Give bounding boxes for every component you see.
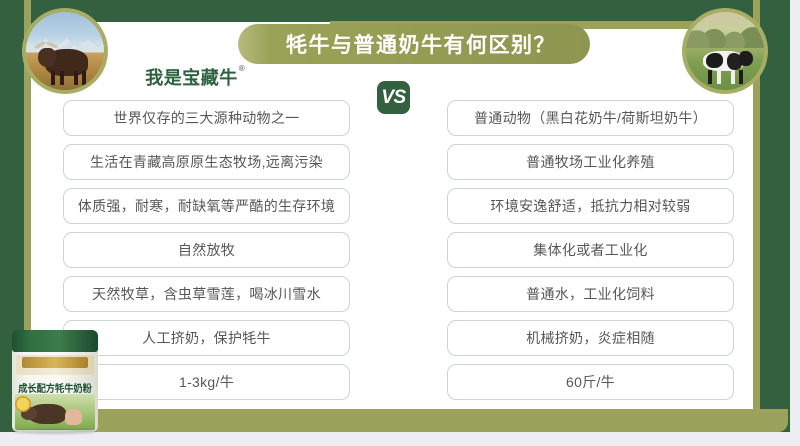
list-item-label: 天然牧草，含虫草雪莲，喝冰川雪水 (92, 284, 321, 304)
dairy-cow-attribute-list: 普通动物（黑白花奶牛/荷斯坦奶牛） 普通牧场工业化养殖 环境安逸舒适，抵抗力相对… (447, 100, 734, 400)
yak-scene (26, 12, 104, 90)
cow-leg (708, 70, 712, 84)
tree-line (686, 24, 764, 47)
product-can: 成长配方牦牛奶粉 (12, 330, 98, 432)
page-title: 牦牛与普通奶牛有何区别？ (286, 29, 556, 59)
dairy-cow-photo (682, 8, 768, 94)
title-banner: 牦牛与普通奶牛有何区别？ (238, 24, 590, 64)
list-item-label: 人工挤奶，保护牦牛 (142, 328, 271, 348)
yak-leg (82, 71, 86, 85)
can-child-illustration (65, 409, 83, 425)
list-item: 生活在青藏高原原生态牧场,远离污染 (63, 144, 350, 180)
list-item: 普通动物（黑白花奶牛/荷斯坦奶牛） (447, 100, 734, 136)
list-item: 60斤/牛 (447, 364, 734, 400)
page-background-strip (0, 432, 790, 446)
brand-logo: 我是宝藏牛® (140, 64, 250, 90)
list-item: 天然牧草，含虫草雪莲，喝冰川雪水 (63, 276, 350, 312)
can-product-title-label: 成长配方牦牛奶粉 (18, 380, 92, 395)
list-item: 人工挤奶，保护牦牛 (63, 320, 350, 356)
yak-leg (60, 71, 64, 85)
list-item-label: 体质强，耐寒，耐缺氧等严酷的生存环境 (78, 196, 335, 216)
yak-photo-disc (26, 12, 104, 90)
can-lid (12, 330, 98, 352)
comparison-poster: 牦牛与普通奶牛有何区别？ (0, 0, 790, 446)
list-item-label: 普通牧场工业化养殖 (526, 152, 655, 172)
frame-accent-bottom (24, 417, 760, 424)
list-item-label: 世界仅存的三大源种动物之一 (114, 108, 300, 128)
pasture-scene (686, 12, 764, 90)
list-item: 世界仅存的三大源种动物之一 (63, 100, 350, 136)
cow-leg (731, 70, 735, 84)
yak-leg (51, 71, 55, 85)
list-item-label: 生活在青藏高原原生态牧场,远离污染 (90, 152, 323, 172)
list-item-label: 环境安逸舒适，抵抗力相对较弱 (490, 196, 690, 216)
vs-label: VS (381, 87, 405, 109)
can-product-title: 成长配方牦牛奶粉 (15, 380, 95, 394)
cow-leg (717, 70, 721, 84)
cow-leg (739, 70, 743, 84)
dairy-cow-photo-disc (686, 12, 764, 90)
list-item: 普通牧场工业化养殖 (447, 144, 734, 180)
yak-head (38, 48, 55, 67)
can-gold-ribbon (22, 357, 88, 368)
list-item-label: 普通水，工业化饲料 (526, 284, 655, 304)
list-item-label: 自然放牧 (178, 240, 235, 260)
list-item: 机械挤奶，炎症相随 (447, 320, 734, 356)
list-item-label: 60斤/牛 (566, 372, 615, 392)
vs-badge: VS (377, 81, 410, 114)
list-item: 环境安逸舒适，抵抗力相对较弱 (447, 188, 734, 224)
list-item-label: 集体化或者工业化 (533, 240, 647, 260)
list-item: 集体化或者工业化 (447, 232, 734, 268)
can-shadow (14, 429, 96, 434)
registered-trademark-icon: ® (239, 65, 245, 73)
list-item: 普通水，工业化饲料 (447, 276, 734, 312)
yak-attribute-list: 世界仅存的三大源种动物之一 生活在青藏高原原生态牧场,远离污染 体质强，耐寒，耐… (63, 100, 350, 400)
list-item-label: 普通动物（黑白花奶牛/荷斯坦奶牛） (474, 108, 707, 128)
cow-head (739, 51, 753, 66)
list-item: 1-3kg/牛 (63, 364, 350, 400)
list-item: 自然放牧 (63, 232, 350, 268)
can-medal-icon (15, 396, 31, 412)
list-item-label: 1-3kg/牛 (179, 372, 234, 392)
list-item: 体质强，耐寒，耐缺氧等严酷的生存环境 (63, 188, 350, 224)
yak-photo (22, 8, 108, 94)
brand-name: 我是宝藏牛 (145, 64, 238, 90)
list-item-label: 机械挤奶，炎症相随 (526, 328, 655, 348)
yak-leg (74, 71, 78, 85)
